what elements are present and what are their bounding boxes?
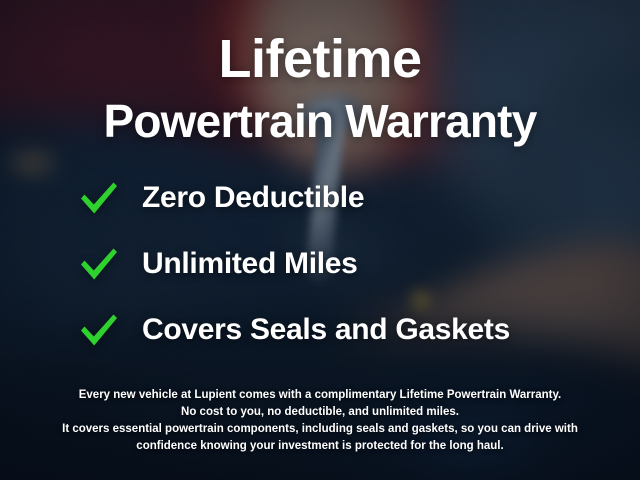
headline-primary: Lifetime xyxy=(218,32,421,86)
headline-secondary: Powertrain Warranty xyxy=(104,98,537,144)
benefit-label: Unlimited Miles xyxy=(142,247,358,281)
benefit-label: Covers Seals and Gaskets xyxy=(142,313,510,347)
description-paragraph: Every new vehicle at Lupient comes with … xyxy=(0,387,640,455)
benefit-item-covers-seals-and-gaskets: Covers Seals and Gaskets xyxy=(78,310,640,350)
green-check-icon xyxy=(78,178,120,218)
description-line-4: confidence knowing your investment is pr… xyxy=(26,438,614,455)
benefit-item-zero-deductible: Zero Deductible xyxy=(78,178,640,218)
benefits-list: Zero Deductible Unlimited Miles Covers S… xyxy=(0,178,640,350)
description-line-1: Every new vehicle at Lupient comes with … xyxy=(26,387,614,404)
green-check-icon xyxy=(78,310,120,350)
green-check-icon xyxy=(78,244,120,284)
description-line-3: It covers essential powertrain component… xyxy=(26,421,614,438)
lifetime-powertrain-warranty-banner: Lifetime Powertrain Warranty Zero Deduct… xyxy=(0,0,640,480)
benefit-label: Zero Deductible xyxy=(142,181,364,215)
description-line-2: No cost to you, no deductible, and unlim… xyxy=(26,404,614,421)
banner-content: Lifetime Powertrain Warranty Zero Deduct… xyxy=(0,0,640,480)
benefit-item-unlimited-miles: Unlimited Miles xyxy=(78,244,640,284)
